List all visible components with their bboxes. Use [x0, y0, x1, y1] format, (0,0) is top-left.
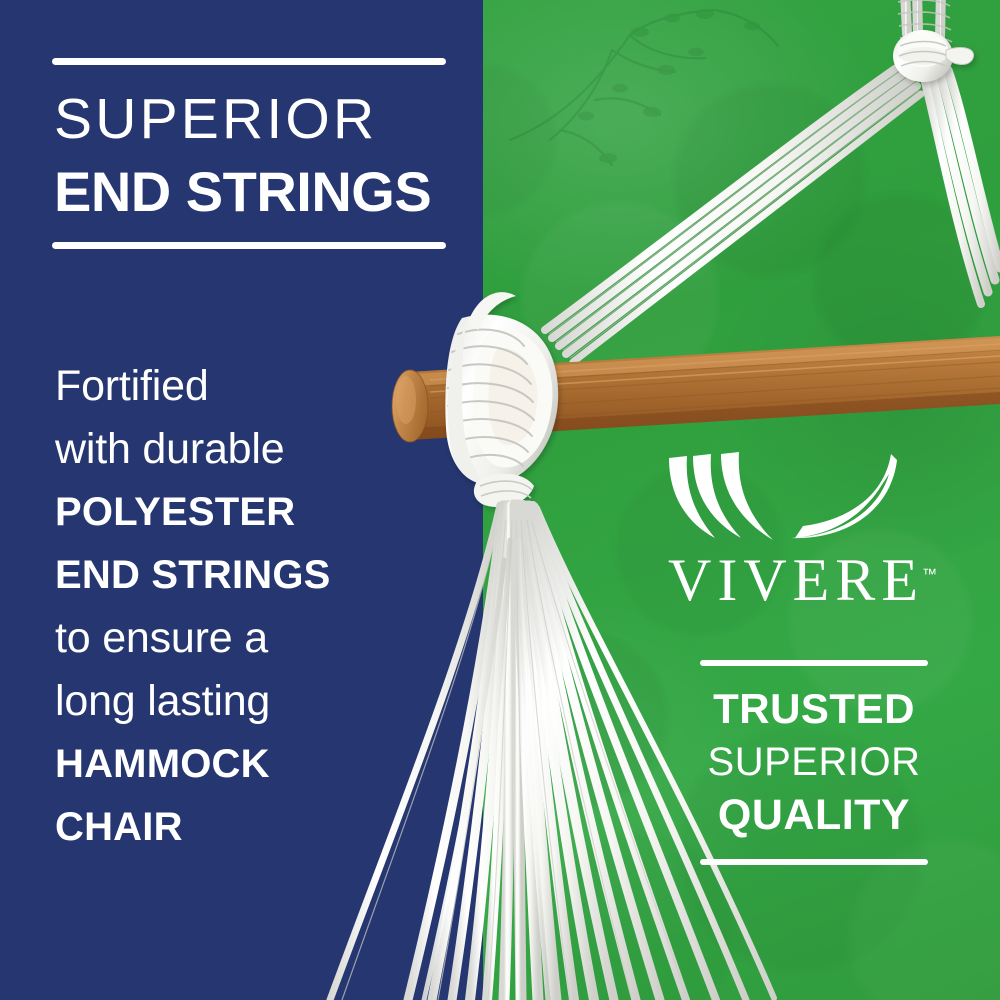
- body-line-2: with durable: [55, 418, 455, 481]
- body-line-1: Fortified: [55, 355, 455, 418]
- vivere-logo: VIVERE™: [660, 448, 945, 610]
- quality-top-rule: [700, 660, 928, 666]
- body-copy: Fortified with durable POLYESTER END STR…: [55, 355, 455, 859]
- product-infographic: SUPERIOR END STRINGS Fortified with dura…: [0, 0, 1000, 1000]
- quality-line-trusted: TRUSTED: [700, 688, 928, 730]
- body-line-3: POLYESTER: [55, 481, 455, 544]
- quality-bottom-rule: [700, 859, 928, 865]
- header-title-end-strings: END STRINGS: [54, 164, 446, 220]
- body-line-5: to ensure a: [55, 607, 455, 670]
- tree-silhouette-ghost: [500, 0, 830, 240]
- vivere-wordmark-text: VIVERE: [668, 547, 924, 613]
- quality-badge: TRUSTED SUPERIOR QUALITY: [700, 660, 928, 865]
- body-line-4: END STRINGS: [55, 544, 455, 607]
- body-line-6: long lasting: [55, 670, 455, 733]
- body-line-8: CHAIR: [55, 796, 455, 859]
- header-top-rule: [52, 58, 446, 65]
- header-block: SUPERIOR END STRINGS: [52, 58, 446, 249]
- vivere-wordmark: VIVERE™: [668, 550, 937, 610]
- vivere-hammock-swoosh-icon: [663, 448, 943, 540]
- body-line-7: HAMMOCK: [55, 733, 455, 796]
- header-bottom-rule: [52, 242, 446, 249]
- trademark-symbol: ™: [922, 566, 937, 583]
- header-title-superior: SUPERIOR: [54, 91, 446, 148]
- quality-line-quality: QUALITY: [700, 794, 928, 837]
- quality-line-superior: SUPERIOR: [700, 742, 928, 782]
